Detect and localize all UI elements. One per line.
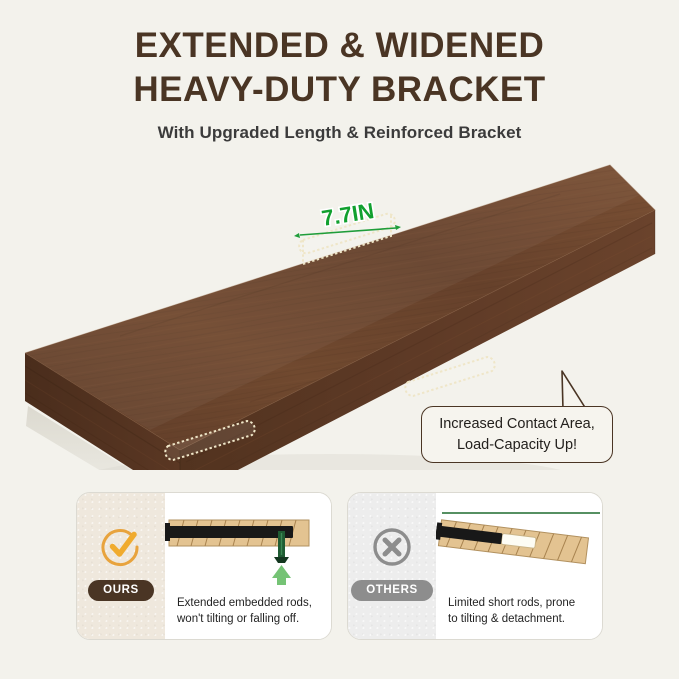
panel-others-badge: OTHERS [351,580,433,601]
panel-others: OTHERS [347,492,603,640]
panel-ours-caption-line-1: Extended embedded rods, [177,595,329,611]
others-illustration [436,493,603,591]
callout-bubble: Increased Contact Area, Load-Capacity Up… [421,406,613,463]
ours-embedded-rod [165,526,293,538]
check-circle-icon [99,525,143,569]
panel-others-body: Limited short rods, prone to tilting & d… [436,493,602,639]
panel-others-caption-line-1: Limited short rods, prone [448,595,600,611]
panel-ours: OURS [76,492,332,640]
title-line-2: HEAVY-DUTY BRACKET [0,68,679,112]
others-plank-group [436,519,588,563]
panel-others-caption-line-2: to tilting & detachment. [448,611,600,627]
header: EXTENDED & WIDENED HEAVY-DUTY BRACKET Wi… [0,24,679,143]
subtitle: With Upgraded Length & Reinforced Bracke… [0,123,679,143]
panel-ours-badge-column: OURS [77,493,165,639]
panel-ours-caption: Extended embedded rods, won't tilting or… [177,595,329,627]
ours-rod-plate [165,523,170,541]
cross-circle-icon [370,525,414,569]
callout-tail [541,369,589,411]
comparison-panels: OURS [0,492,679,647]
panel-others-badge-column: OTHERS [348,493,436,639]
product-feature-image: EXTENDED & WIDENED HEAVY-DUTY BRACKET Wi… [0,0,679,679]
panel-ours-body: Extended embedded rods, won't tilting or… [165,493,331,639]
ours-up-arrow-icon [272,565,291,585]
callout-line-1: Increased Contact Area, [439,414,595,435]
callout-line-2: Load-Capacity Up! [457,435,577,456]
ours-illustration [165,493,332,591]
panel-ours-badge: OURS [88,580,154,601]
panel-others-caption: Limited short rods, prone to tilting & d… [448,595,600,627]
title-line-1: EXTENDED & WIDENED [0,24,679,68]
panel-ours-caption-line-2: won't tilting or falling off. [177,611,329,627]
